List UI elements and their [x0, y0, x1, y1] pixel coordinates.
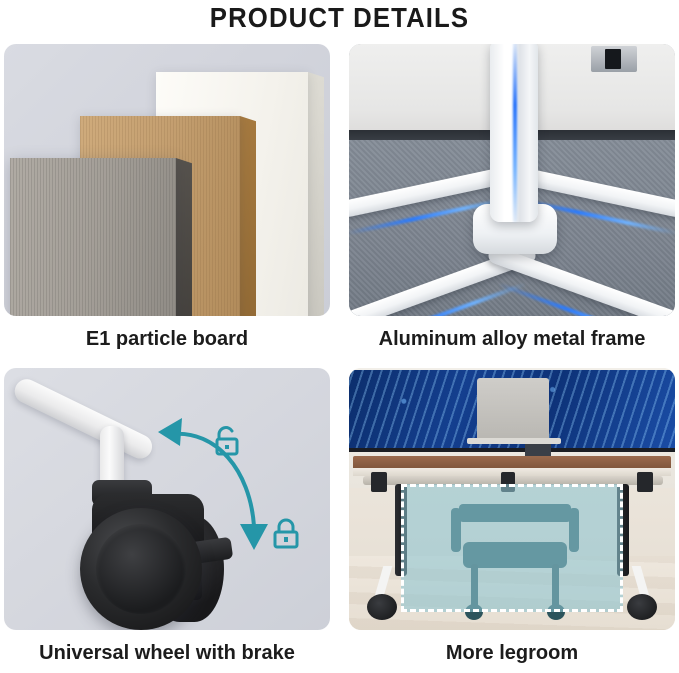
- column-blue-highlight: [513, 44, 517, 222]
- panel-caption: Aluminum alloy metal frame: [349, 328, 675, 351]
- photo-particle-boards: [4, 44, 330, 316]
- frame-bracket: [591, 46, 637, 72]
- panel-grid: E1 particle board: [0, 44, 679, 673]
- vertical-column: [490, 44, 538, 222]
- white-board-edge: [308, 72, 324, 316]
- desk-bracket-right: [637, 472, 653, 492]
- legroom-highlight-zone: [401, 484, 623, 612]
- photo-legroom: [349, 368, 675, 630]
- lock-icon: [270, 516, 302, 550]
- panel-caption: E1 particle board: [4, 328, 330, 351]
- panel-universal-wheel-with-brake: Universal wheel with brake: [4, 368, 330, 673]
- panel-e1-particle-board: E1 particle board: [4, 44, 330, 364]
- unlock-icon: [210, 424, 244, 458]
- photo-metal-frame: [349, 44, 675, 316]
- panel-more-legroom: More legroom: [349, 368, 675, 673]
- laptop-base: [467, 438, 561, 444]
- gray-board-face: [10, 158, 176, 316]
- photo-caster-wheel: [4, 368, 330, 630]
- gray-wood-board: [10, 158, 176, 316]
- leg-tube-upper: [11, 375, 156, 462]
- product-details-infographic: PRODUCT DETAILS E1 particle board: [0, 0, 679, 673]
- panel-caption: More legroom: [349, 642, 675, 665]
- desk-bracket-left: [371, 472, 387, 492]
- gray-board-edge: [176, 158, 192, 316]
- panel-aluminum-alloy-metal-frame: Aluminum alloy metal frame: [349, 44, 675, 364]
- page-title: PRODUCT DETAILS: [27, 2, 652, 34]
- laptop: [477, 378, 549, 440]
- tan-board-edge: [240, 116, 256, 316]
- desk-caster-right: [627, 594, 657, 620]
- panel-caption: Universal wheel with brake: [4, 642, 330, 665]
- desk-caster-left: [367, 594, 397, 620]
